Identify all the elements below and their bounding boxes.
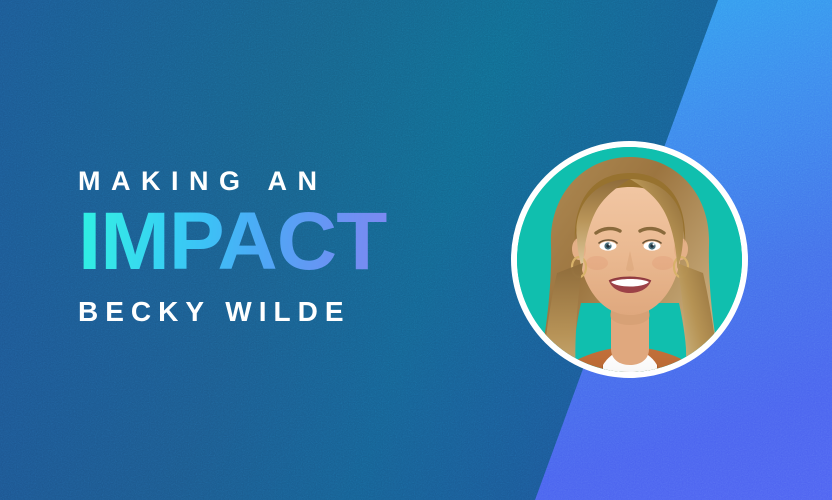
avatar	[511, 141, 748, 378]
portrait-photo	[511, 141, 748, 378]
title-copy-block: MAKING AN IMPACT BECKY WILDE	[78, 168, 508, 326]
impact-title-slide: MAKING AN IMPACT BECKY WILDE	[0, 0, 832, 500]
avatar-ring	[511, 141, 748, 378]
eyebrow-text: MAKING AN	[78, 168, 508, 195]
speaker-name: BECKY WILDE	[78, 298, 508, 326]
page-title: IMPACT	[78, 204, 517, 279]
